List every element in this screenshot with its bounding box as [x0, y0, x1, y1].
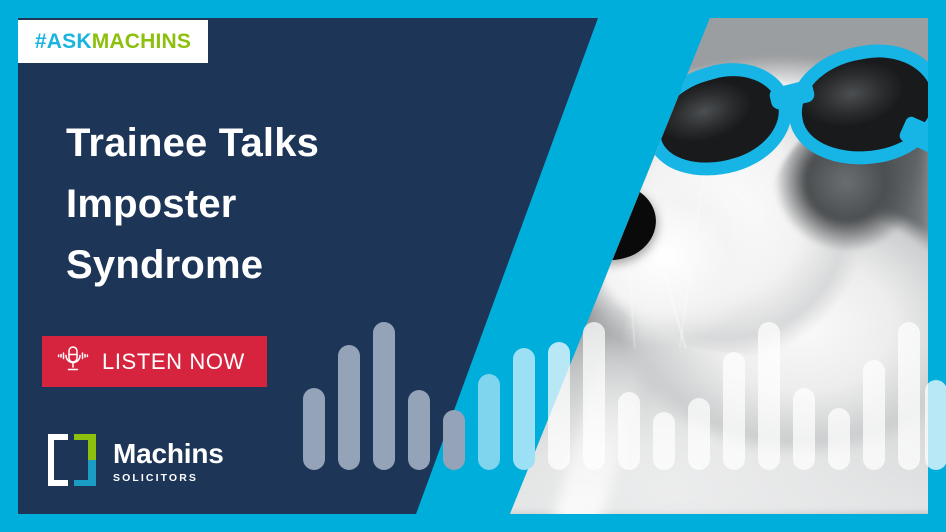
bracket-logo-mark-icon — [44, 432, 100, 488]
listen-now-button[interactable]: LISTEN NOW — [42, 336, 267, 387]
headline-line-3: Syndrome — [66, 235, 486, 296]
listen-now-label: LISTEN NOW — [102, 349, 245, 375]
headline-line-2: Imposter — [66, 174, 486, 235]
badge-hashtag-ask: #ASK — [35, 30, 92, 54]
machins-logo[interactable]: Machins SOLICITORS — [44, 432, 224, 488]
waveform-bar — [925, 380, 946, 470]
logo-subtitle: SOLICITORS — [113, 472, 224, 484]
page-title: Trainee Talks Imposter Syndrome — [66, 113, 486, 295]
logo-name: Machins — [113, 440, 224, 468]
headline-line-1: Trainee Talks — [66, 113, 486, 174]
podcast-promo-banner: #ASKMACHINS Trainee Talks Imposter Syndr… — [0, 0, 946, 532]
microphone-icon — [56, 342, 90, 381]
hashtag-badge: #ASKMACHINS — [18, 20, 208, 63]
badge-hashtag-machins: MACHINS — [92, 30, 191, 54]
logo-wordmark: Machins SOLICITORS — [113, 440, 224, 484]
